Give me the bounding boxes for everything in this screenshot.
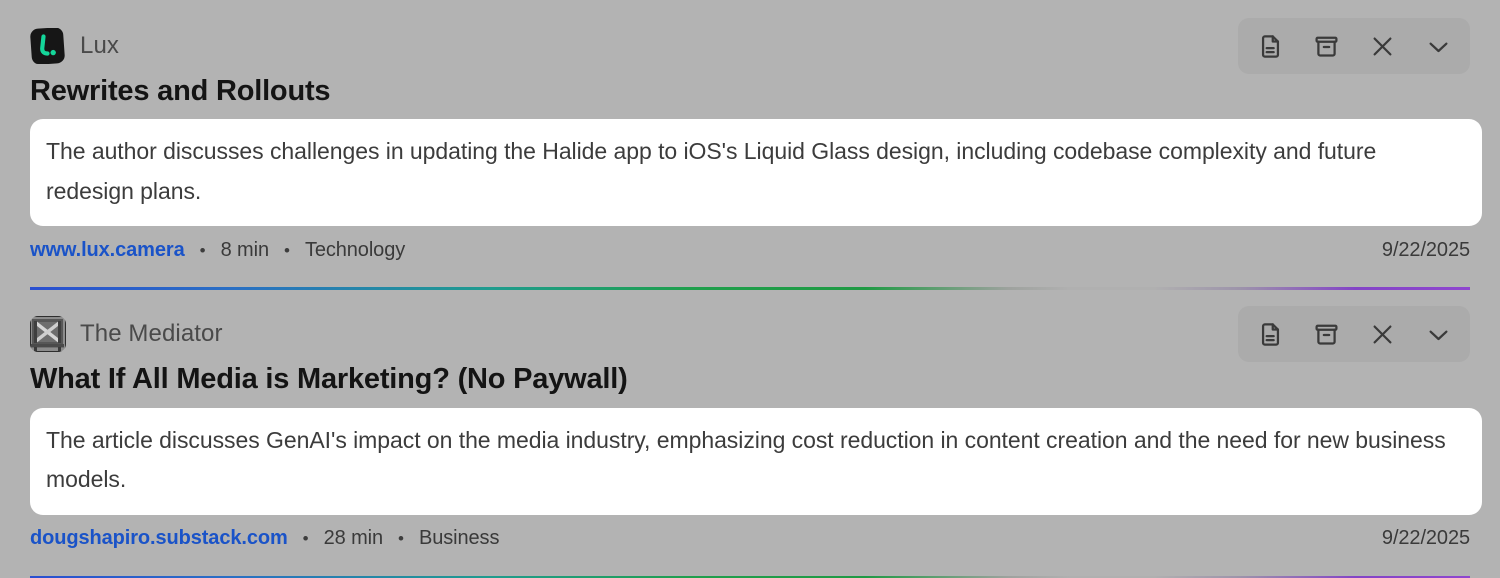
article-item: Lux (0, 0, 1500, 265)
article-actions (1238, 306, 1470, 362)
archive-button[interactable] (1302, 311, 1350, 357)
article-actions (1238, 18, 1470, 74)
article-summary-card: The article discusses GenAI's impact on … (30, 408, 1482, 515)
summarize-button[interactable] (1246, 23, 1294, 69)
summarize-button[interactable] (1246, 311, 1294, 357)
article-item: The Mediator (0, 290, 1500, 553)
source-domain-link[interactable]: www.lux.camera (30, 239, 185, 262)
meta-separator: • (398, 530, 404, 547)
read-time: 8 min (221, 239, 269, 262)
article-summary: The article discusses GenAI's impact on … (46, 421, 1466, 500)
lux-logo-icon (30, 28, 66, 64)
article-meta: www.lux.camera • 8 min • Technology 9/22… (30, 235, 1470, 265)
published-date: 9/22/2025 (1382, 239, 1470, 262)
article-summary: The author discusses challenges in updat… (46, 132, 1466, 211)
article-summary-card: The author discusses challenges in updat… (30, 119, 1482, 226)
article-header: Lux (30, 22, 1470, 70)
article-feed: Lux (0, 0, 1500, 578)
expand-button[interactable] (1414, 311, 1462, 357)
article-title[interactable]: Rewrites and Rollouts (30, 74, 1470, 109)
meta-separator: • (303, 530, 309, 547)
category-label: Technology (305, 239, 405, 262)
source-domain-link[interactable]: dougshapiro.substack.com (30, 527, 288, 550)
published-date: 9/22/2025 (1382, 527, 1470, 550)
close-button[interactable] (1358, 311, 1406, 357)
meta-separator: • (200, 242, 206, 259)
article-body: Rewrites and Rollouts The author discuss… (30, 70, 1470, 265)
article-meta: dougshapiro.substack.com • 28 min • Busi… (30, 524, 1470, 554)
source-name: Lux (80, 32, 119, 60)
archive-button[interactable] (1302, 23, 1350, 69)
meta-separator: • (284, 242, 290, 259)
category-label: Business (419, 527, 499, 550)
article-body: What If All Media is Marketing? (No Payw… (30, 358, 1470, 553)
close-button[interactable] (1358, 23, 1406, 69)
expand-button[interactable] (1414, 23, 1462, 69)
read-time: 28 min (324, 527, 383, 550)
source-name: The Mediator (80, 320, 223, 348)
article-header: The Mediator (30, 310, 1470, 358)
mediator-logo-icon (30, 316, 66, 352)
article-title[interactable]: What If All Media is Marketing? (No Payw… (30, 362, 1470, 397)
